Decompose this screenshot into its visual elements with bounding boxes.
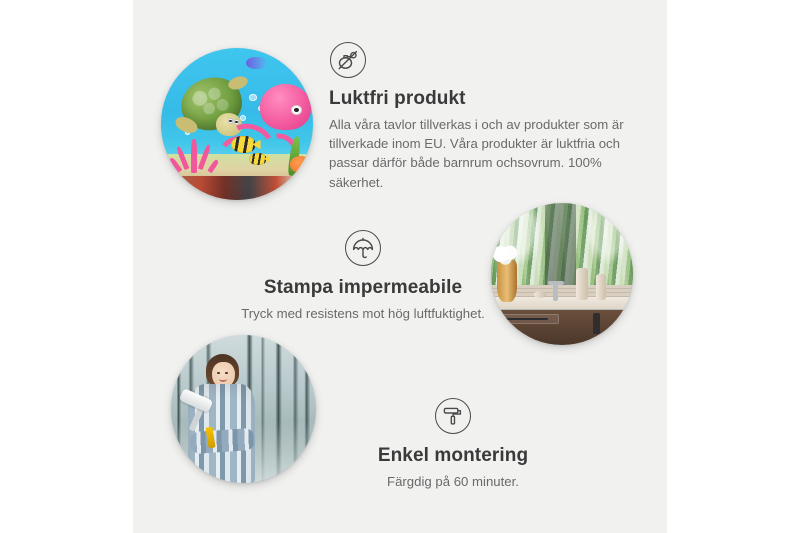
paint-roller-icon xyxy=(435,398,471,434)
feature-title: Stampa impermeabile xyxy=(213,277,513,299)
umbrella-icon xyxy=(345,230,381,266)
photo-kids-underwater-art xyxy=(161,48,313,200)
feature-body: Färgdig på 60 minuter. xyxy=(323,472,583,491)
photo-woman-paint-roller-art xyxy=(171,335,316,483)
feature-body: Tryck med resistens mot hög luftfuktighe… xyxy=(213,304,513,323)
feature-easy-mounting: Enkel montering Färgdig på 60 minuter. xyxy=(323,398,583,491)
no-perfume-icon xyxy=(330,42,366,78)
feature-title: Luktfri produkt xyxy=(329,88,629,110)
content-canvas: Luktfri produkt Alla våra tavlor tillver… xyxy=(133,0,667,533)
photo-kids-underwater xyxy=(161,48,313,200)
page-root: Luktfri produkt Alla våra tavlor tillver… xyxy=(0,0,800,533)
feature-odor-free: Luktfri produkt Alla våra tavlor tillver… xyxy=(329,42,629,192)
feature-body: Alla våra tavlor tillverkas i och av pro… xyxy=(329,115,629,192)
feature-title: Enkel montering xyxy=(323,445,583,467)
feature-waterproof-print: Stampa impermeabile Tryck med resistens … xyxy=(213,230,513,323)
photo-woman-paint-roller xyxy=(171,335,316,483)
